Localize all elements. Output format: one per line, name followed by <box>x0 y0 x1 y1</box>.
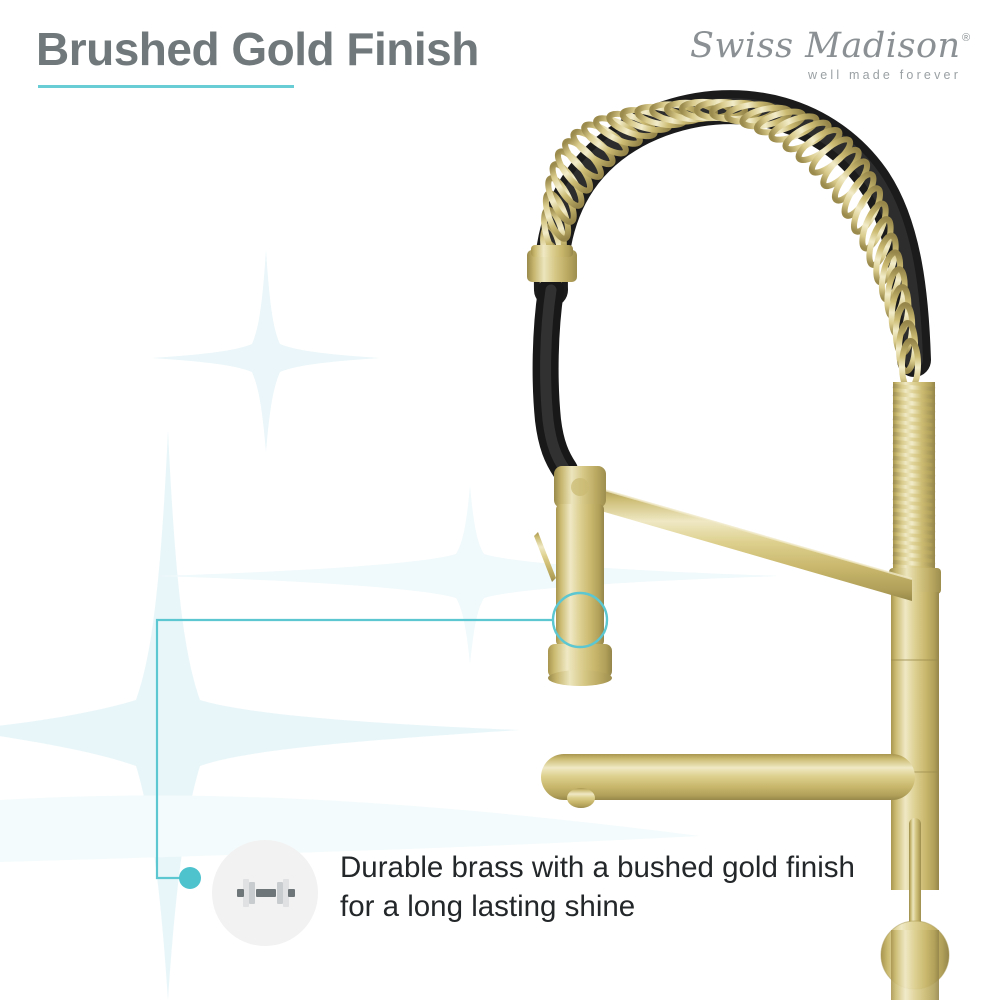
feature-icon-badge <box>212 840 318 946</box>
brand-name: Swiss Madison <box>690 26 980 66</box>
sparkle-wide <box>160 486 780 664</box>
page-title: Brushed Gold Finish <box>36 22 479 76</box>
faucet-lower-spout <box>541 754 915 808</box>
sprayer-barrel <box>556 504 604 646</box>
faucet-base-knob <box>881 921 949 989</box>
registered-trademark-icon: ® <box>962 32 970 44</box>
sprayer-joint <box>554 466 606 508</box>
feature-description: Durable brass with a bushed gold finish … <box>340 848 860 926</box>
faucet-lower-spring <box>893 382 935 574</box>
spring-coil-rings <box>540 101 918 389</box>
faucet-support-arm <box>594 487 912 601</box>
faucet-main-column <box>881 568 949 1000</box>
faucet-sprayer-head <box>527 245 612 686</box>
feature-callout: Durable brass with a bushed gold finish … <box>212 838 872 948</box>
sprayer-trigger <box>534 532 556 582</box>
sparkle-medium <box>152 250 380 452</box>
sprayer-nozzle <box>548 644 612 678</box>
title-underline-rule <box>38 85 294 88</box>
brand-logo: Swiss Madison ® well made forever <box>690 26 980 82</box>
callout-end-dot <box>179 867 201 889</box>
dumbbell-icon <box>232 871 300 915</box>
callout-target-circle <box>553 593 607 647</box>
spout-aerator <box>567 788 595 808</box>
faucet-spring-arch <box>540 101 918 389</box>
brand-tagline: well made forever <box>808 68 961 82</box>
product-feature-graphic: Brushed Gold Finish Swiss Madison ® well… <box>0 0 1000 1000</box>
